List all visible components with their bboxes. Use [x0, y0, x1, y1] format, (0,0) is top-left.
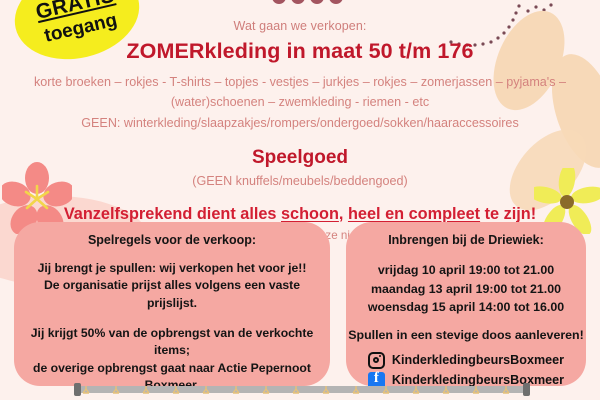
- rules-paragraph-1: Jij brengt je spullen: wij verkopen het …: [14, 260, 330, 312]
- instagram-link[interactable]: KinderkledingbeursBoxmeer: [368, 352, 564, 369]
- instagram-icon: [368, 352, 385, 369]
- header-block: Wat gaan we verkopen: ZOMERkleding in ma…: [0, 0, 600, 242]
- condition-mid: ,: [339, 205, 348, 223]
- dropoff-note: Spullen in een stevige doos aanleveren!: [346, 328, 586, 342]
- rules-p1-line1: Jij brengt je spullen: wij verkopen het …: [22, 260, 322, 277]
- instagram-handle: KinderkledingbeursBoxmeer: [392, 353, 564, 367]
- dropoff-time-row: maandag 13 april 19:00 tot 21.00: [346, 280, 586, 299]
- list-line-3: GEEN: winterkleding/slaapzakjes/rompers/…: [0, 113, 600, 133]
- condition-post: te zijn!: [480, 205, 536, 223]
- dropoff-box: Inbrengen bij de Driewiek: vrijdag 10 ap…: [346, 222, 586, 386]
- intro-question: Wat gaan we verkopen:: [0, 19, 600, 33]
- dropoff-times: vrijdag 10 april 19:00 tot 21.00 maandag…: [346, 261, 586, 317]
- condition-underline-heel: heel en compleet: [348, 205, 480, 223]
- condition-underline-schoon: schoon: [281, 205, 339, 223]
- list-line-1: korte broeken – rokjes - T-shirts – topj…: [0, 72, 600, 92]
- rules-box: Spelregels voor de verkoop: Jij brengt j…: [14, 222, 330, 386]
- rules-p2-line1: Jij krijgt 50% van de opbrengst van de v…: [22, 325, 322, 360]
- poster-canvas: GRATIS toegang Wat gaan we verkopen: ZOM…: [0, 0, 600, 400]
- dropoff-title: Inbrengen bij de Driewiek:: [346, 222, 586, 247]
- condition-pre: Vanzelfsprekend dient alles: [64, 205, 281, 223]
- rules-p1-line2: De organisatie prijst alles volgens een …: [22, 277, 322, 312]
- rules-title: Spelregels voor de verkoop:: [14, 222, 330, 247]
- hangers-decoration: [78, 383, 526, 397]
- toys-exclusions: (GEEN knuffels/meubels/beddengoed): [0, 174, 600, 188]
- page-title: ZOMERkleding in maat 50 t/m 176: [0, 39, 600, 64]
- toys-heading: Speelgoed: [0, 147, 600, 169]
- list-line-2: (water)schoenen – zwemkleding - riemen -…: [0, 92, 600, 112]
- dropoff-time-row: woensdag 15 april 14:00 tot 16.00: [346, 298, 586, 317]
- dropoff-time-row: vrijdag 10 april 19:00 tot 21.00: [346, 261, 586, 280]
- accepted-items-list: korte broeken – rokjes - T-shirts – topj…: [0, 72, 600, 133]
